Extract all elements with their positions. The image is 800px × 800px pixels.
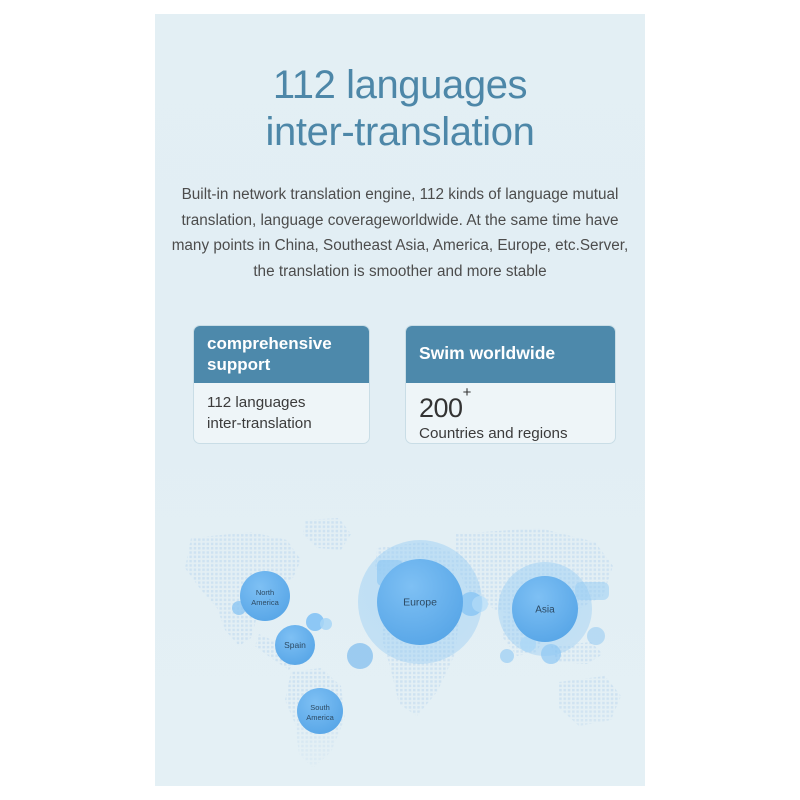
screenshot-root: 112 languages inter-translation Built-in…: [0, 0, 800, 800]
hero-description: Built-in network translation engine, 112…: [169, 182, 631, 284]
content-panel: 112 languages inter-translation Built-in…: [155, 14, 645, 786]
feature-card-group: comprehensive support 112 languages inte…: [155, 325, 645, 460]
bubble-label: Asia: [535, 605, 555, 616]
stat-number: 200: [419, 393, 463, 423]
map-bottom-fade: [155, 694, 645, 786]
stat-value: 200+: [419, 388, 602, 423]
map-bubble-spain[interactable]: Spain: [275, 625, 315, 665]
map-bubble-south-america[interactable]: SouthAmerica: [297, 688, 343, 734]
card-swim-worldwide[interactable]: Swim worldwide 200+ Countries and region…: [405, 325, 616, 444]
page-title: 112 languages inter-translation: [155, 62, 645, 156]
map-bubble-asia[interactable]: Asia: [498, 562, 592, 656]
card-comprehensive-support[interactable]: comprehensive support 112 languages inte…: [193, 325, 370, 444]
card-title-swim-worldwide: Swim worldwide: [406, 326, 615, 383]
card-body-swim-worldwide: 200+ Countries and regions: [406, 383, 615, 443]
bubble-label: Spain: [284, 640, 306, 650]
stat-plus-sign: +: [463, 384, 471, 401]
card-body-comprehensive-support: 112 languages inter-translation: [194, 383, 369, 434]
bubble-label: Europe: [403, 597, 437, 609]
card-title-comprehensive-support: comprehensive support: [194, 326, 369, 383]
stat-caption: Countries and regions: [419, 424, 602, 443]
world-map-illustration: NorthAmericaSpainSouthAmericaEuropeAsia: [155, 504, 645, 786]
map-bubble-north-america[interactable]: NorthAmerica: [240, 571, 290, 621]
world-dot-map-svg: NorthAmericaSpainSouthAmericaEuropeAsia: [155, 504, 645, 786]
map-bubble-europe[interactable]: Europe: [358, 540, 482, 664]
